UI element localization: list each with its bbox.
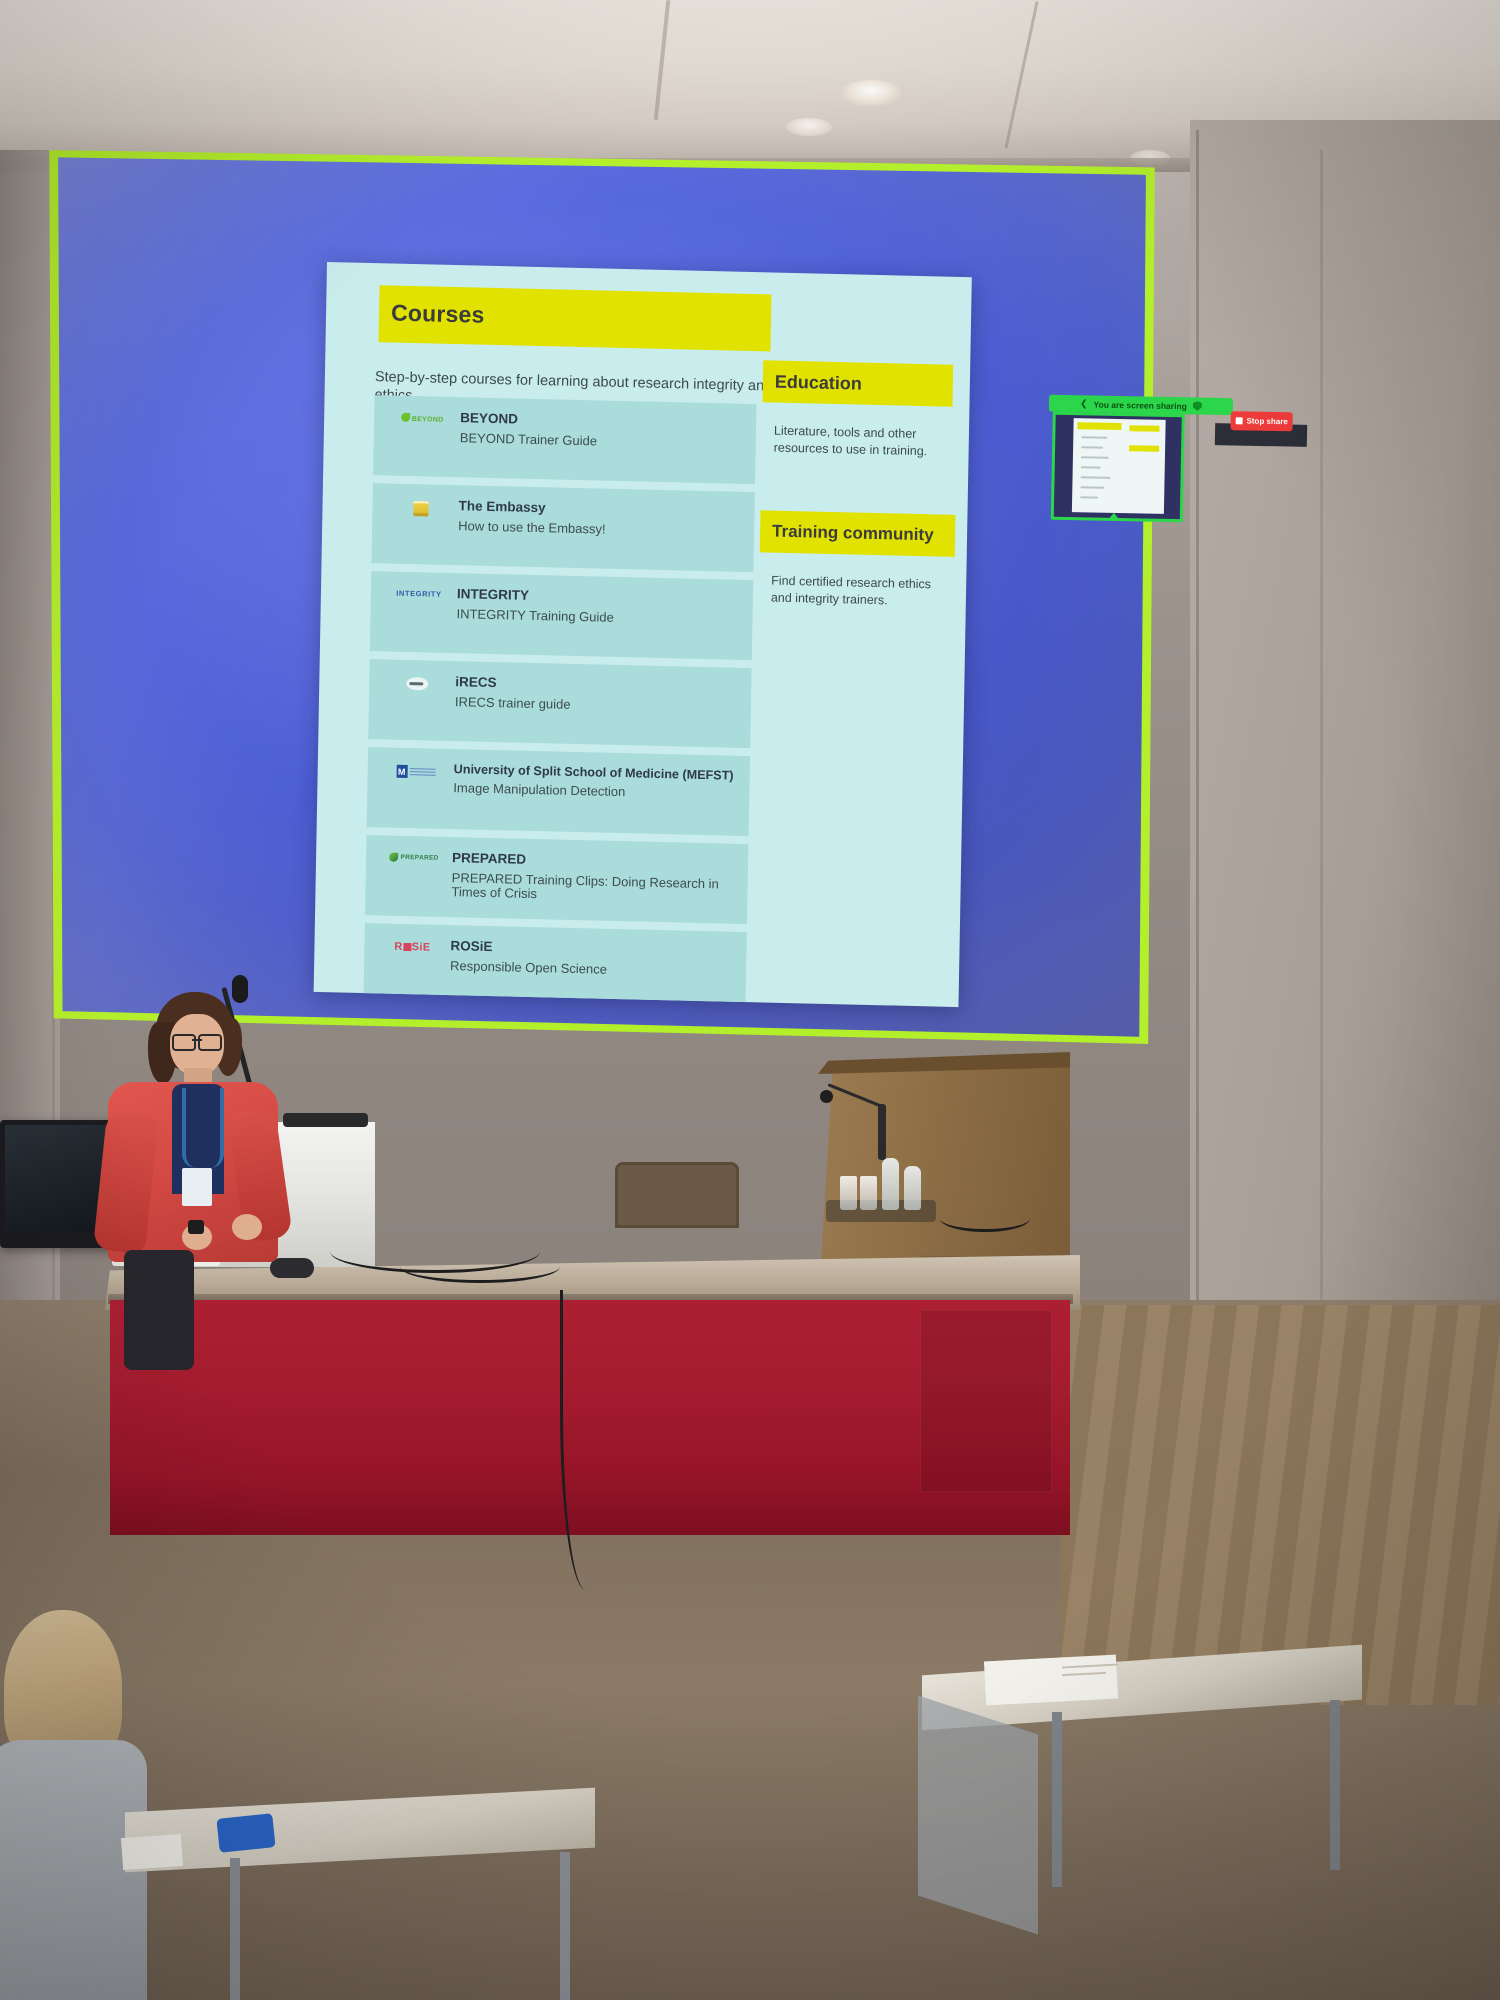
caret-up-icon[interactable] bbox=[1109, 513, 1119, 519]
lanyard bbox=[182, 1088, 224, 1168]
education-text: Literature, tools and other resources to… bbox=[774, 423, 950, 461]
thumbnail-page bbox=[1072, 418, 1166, 514]
course-name: iRECS bbox=[455, 674, 739, 696]
irecs-logo bbox=[381, 672, 453, 691]
shield-icon bbox=[1193, 401, 1202, 411]
cable bbox=[400, 1250, 560, 1283]
shared-slide: Courses Step-by-step courses for learnin… bbox=[314, 262, 972, 1007]
share-preview-thumbnail[interactable] bbox=[1051, 412, 1185, 523]
cable bbox=[940, 1205, 1030, 1232]
name-badge bbox=[182, 1168, 212, 1206]
ceiling-light bbox=[840, 80, 902, 106]
course-name: University of Split School of Medicine (… bbox=[454, 762, 738, 783]
education-heading: Education bbox=[775, 372, 862, 395]
course-subtitle: BEYOND Trainer Guide bbox=[460, 431, 744, 453]
course-subtitle: How to use the Embassy! bbox=[458, 519, 742, 541]
training-community-heading: Training community bbox=[772, 522, 934, 546]
training-community-text: Find certified research ethics and integ… bbox=[771, 573, 947, 611]
course-row[interactable]: PREPARED PREPARED PREPARED Training Clip… bbox=[365, 835, 748, 924]
courses-heading: Courses bbox=[391, 300, 485, 329]
course-name: ROSiE bbox=[450, 938, 734, 960]
course-row[interactable]: M University of Split School of Medicine… bbox=[367, 747, 750, 836]
desk-leg bbox=[1052, 1712, 1062, 1887]
course-row[interactable]: BEYOND BEYOND BEYOND Trainer Guide bbox=[373, 395, 756, 484]
photo-scene: Courses Step-by-step courses for learnin… bbox=[0, 0, 1500, 2000]
smartphone[interactable] bbox=[216, 1813, 275, 1853]
course-subtitle: Responsible Open Science bbox=[450, 959, 734, 981]
desk-leg bbox=[560, 1852, 570, 2000]
eyeglasses bbox=[172, 1034, 222, 1047]
stop-square-icon bbox=[1235, 417, 1242, 424]
course-subtitle: IRECS trainer guide bbox=[455, 695, 739, 717]
screen-share-toolbar[interactable]: ❮ You are screen sharing Stop share bbox=[1047, 390, 1295, 520]
desk-leg bbox=[1330, 1700, 1340, 1870]
stop-share-button[interactable]: Stop share bbox=[1230, 411, 1292, 431]
stop-share-label: Stop share bbox=[1246, 416, 1288, 426]
course-row[interactable]: INTEGRITY INTEGRITY INTEGRITY Training G… bbox=[370, 571, 753, 660]
audience-member bbox=[0, 1610, 190, 2000]
courses-column: Courses Step-by-step courses for learnin… bbox=[314, 262, 757, 1002]
course-name: INTEGRITY bbox=[457, 586, 741, 608]
course-row[interactable]: iRECS IRECS trainer guide bbox=[368, 659, 751, 748]
wall-seam bbox=[1196, 130, 1199, 1310]
wall-seam bbox=[1320, 150, 1323, 1300]
chevron-left-icon[interactable]: ❮ bbox=[1080, 398, 1088, 409]
presentation-clicker bbox=[188, 1220, 204, 1234]
paper-sheet bbox=[121, 1834, 183, 1870]
course-row[interactable]: The Embassy How to use the Embassy! bbox=[371, 483, 754, 572]
course-name: The Embassy bbox=[458, 498, 742, 520]
projection-screen: Courses Step-by-step courses for learnin… bbox=[47, 140, 1157, 1055]
presenter bbox=[96, 992, 286, 1292]
prepared-logo: PREPARED bbox=[378, 848, 450, 863]
stage-door-panel bbox=[920, 1310, 1052, 1492]
glassware bbox=[838, 1150, 930, 1210]
chair bbox=[615, 1162, 739, 1228]
wood-floor bbox=[1060, 1305, 1500, 1705]
course-subtitle: INTEGRITY Training Guide bbox=[456, 607, 740, 629]
rosie-logo: RSiE bbox=[376, 936, 448, 954]
mefst-logo: M bbox=[380, 760, 452, 779]
embassy-logo bbox=[384, 496, 456, 517]
course-name: PREPARED bbox=[452, 850, 736, 872]
paper-sheet bbox=[984, 1655, 1118, 1706]
integrity-logo: INTEGRITY bbox=[383, 584, 455, 599]
podium-microphone bbox=[820, 1078, 890, 1158]
slide-sidebar: Education Literature, tools and other re… bbox=[744, 272, 972, 1007]
share-status-label: You are screen sharing bbox=[1093, 399, 1187, 411]
beyond-logo: BEYOND bbox=[386, 408, 458, 424]
ceiling-light bbox=[786, 118, 832, 136]
course-list: BEYOND BEYOND BEYOND Trainer Guide The E… bbox=[362, 395, 757, 1007]
course-name: BEYOND bbox=[460, 410, 744, 432]
desk-leg bbox=[230, 1858, 240, 2000]
chair-back bbox=[918, 1696, 1038, 1935]
course-subtitle: PREPARED Training Clips: Doing Research … bbox=[451, 871, 735, 908]
wall-right-panel bbox=[1190, 120, 1500, 1320]
course-subtitle: Image Manipulation Detection bbox=[453, 782, 737, 804]
